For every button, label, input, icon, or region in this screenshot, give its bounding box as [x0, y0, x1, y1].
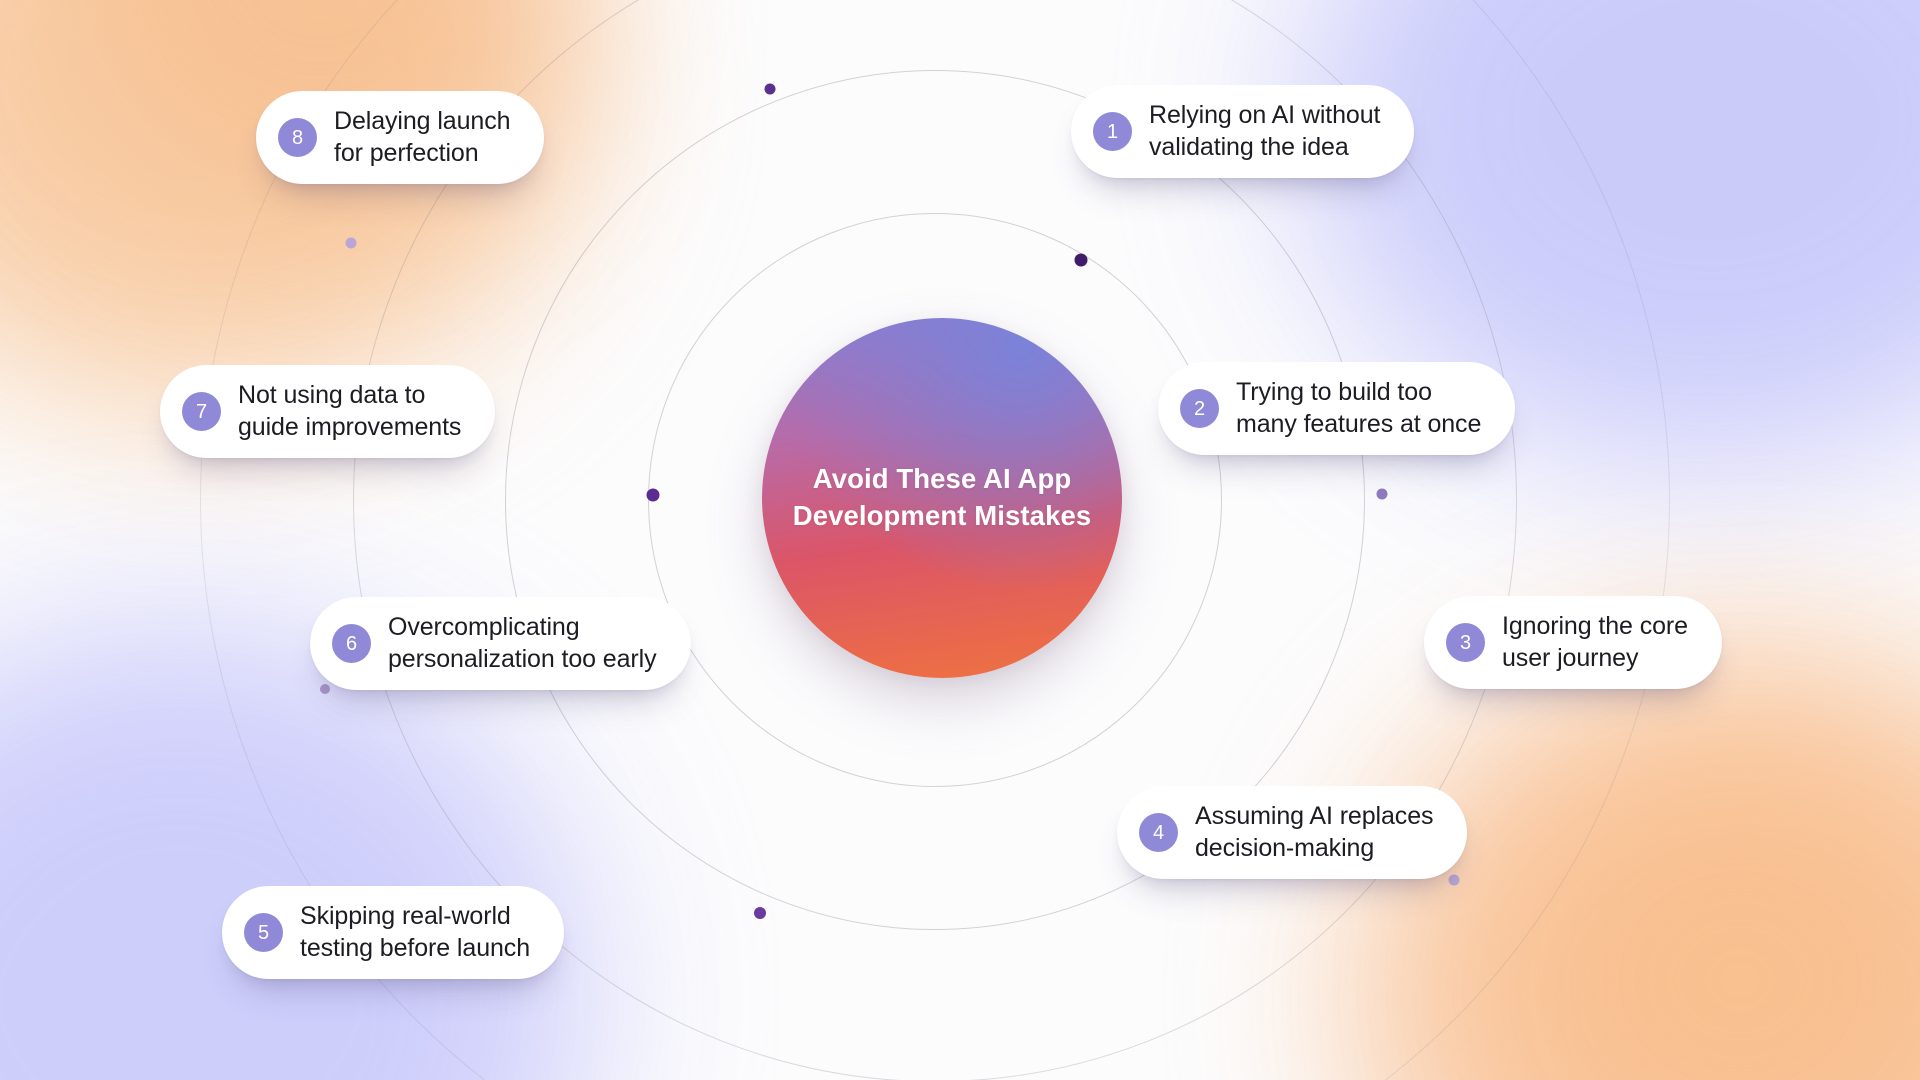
- mistake-card-7[interactable]: 7 Not using data to guide improvements: [160, 365, 495, 458]
- card-number-badge-5: 5: [244, 913, 283, 952]
- card-label-5: Skipping real-world testing before launc…: [300, 901, 530, 964]
- center-title: Avoid These AI App Development Mistakes: [777, 461, 1107, 534]
- mistake-card-5[interactable]: 5 Skipping real-world testing before lau…: [222, 886, 564, 979]
- card-label-7: Not using data to guide improvements: [238, 380, 461, 443]
- card-number-badge-3: 3: [1446, 623, 1485, 662]
- card-label-2: Trying to build too many features at onc…: [1236, 377, 1481, 440]
- mistake-card-6[interactable]: 6 Overcomplicating personalization too e…: [310, 597, 691, 690]
- card-label-4: Assuming AI replaces decision-making: [1195, 801, 1433, 864]
- card-number-badge-8: 8: [278, 118, 317, 157]
- card-label-3: Ignoring the core user journey: [1502, 611, 1688, 674]
- orbit-dot-upper-left: [346, 238, 357, 249]
- mistake-card-8[interactable]: 8 Delaying launch for perfection: [256, 91, 544, 184]
- card-number-badge-2: 2: [1180, 389, 1219, 428]
- background-glow-bottom-right-core: [1500, 760, 1920, 1080]
- orbit-dot-lower-right: [1449, 875, 1460, 886]
- mistake-card-2[interactable]: 2 Trying to build too many features at o…: [1158, 362, 1515, 455]
- card-number-badge-4: 4: [1139, 813, 1178, 852]
- orbit-dot-left-inner: [647, 489, 660, 502]
- orbit-dot-bottom-mid: [754, 907, 766, 919]
- orbit-dot-right-mid: [1377, 489, 1388, 500]
- card-number-badge-7: 7: [182, 392, 221, 431]
- mistake-card-1[interactable]: 1 Relying on AI without validating the i…: [1071, 85, 1414, 178]
- card-label-6: Overcomplicating personalization too ear…: [388, 612, 657, 675]
- card-label-8: Delaying launch for perfection: [334, 106, 510, 169]
- orbit-dot-top-left: [765, 84, 776, 95]
- mistake-card-4[interactable]: 4 Assuming AI replaces decision-making: [1117, 786, 1467, 879]
- mistake-card-3[interactable]: 3 Ignoring the core user journey: [1424, 596, 1722, 689]
- card-label-1: Relying on AI without validating the ide…: [1149, 100, 1380, 163]
- infographic-canvas: Avoid These AI App Development Mistakes …: [0, 0, 1920, 1080]
- card-number-badge-1: 1: [1093, 112, 1132, 151]
- card-number-badge-6: 6: [332, 624, 371, 663]
- center-circle: Avoid These AI App Development Mistakes: [762, 318, 1122, 678]
- orbit-dot-lower-left: [320, 684, 330, 694]
- background-glow-top-left: [0, 0, 580, 410]
- orbit-dot-top-right: [1075, 254, 1088, 267]
